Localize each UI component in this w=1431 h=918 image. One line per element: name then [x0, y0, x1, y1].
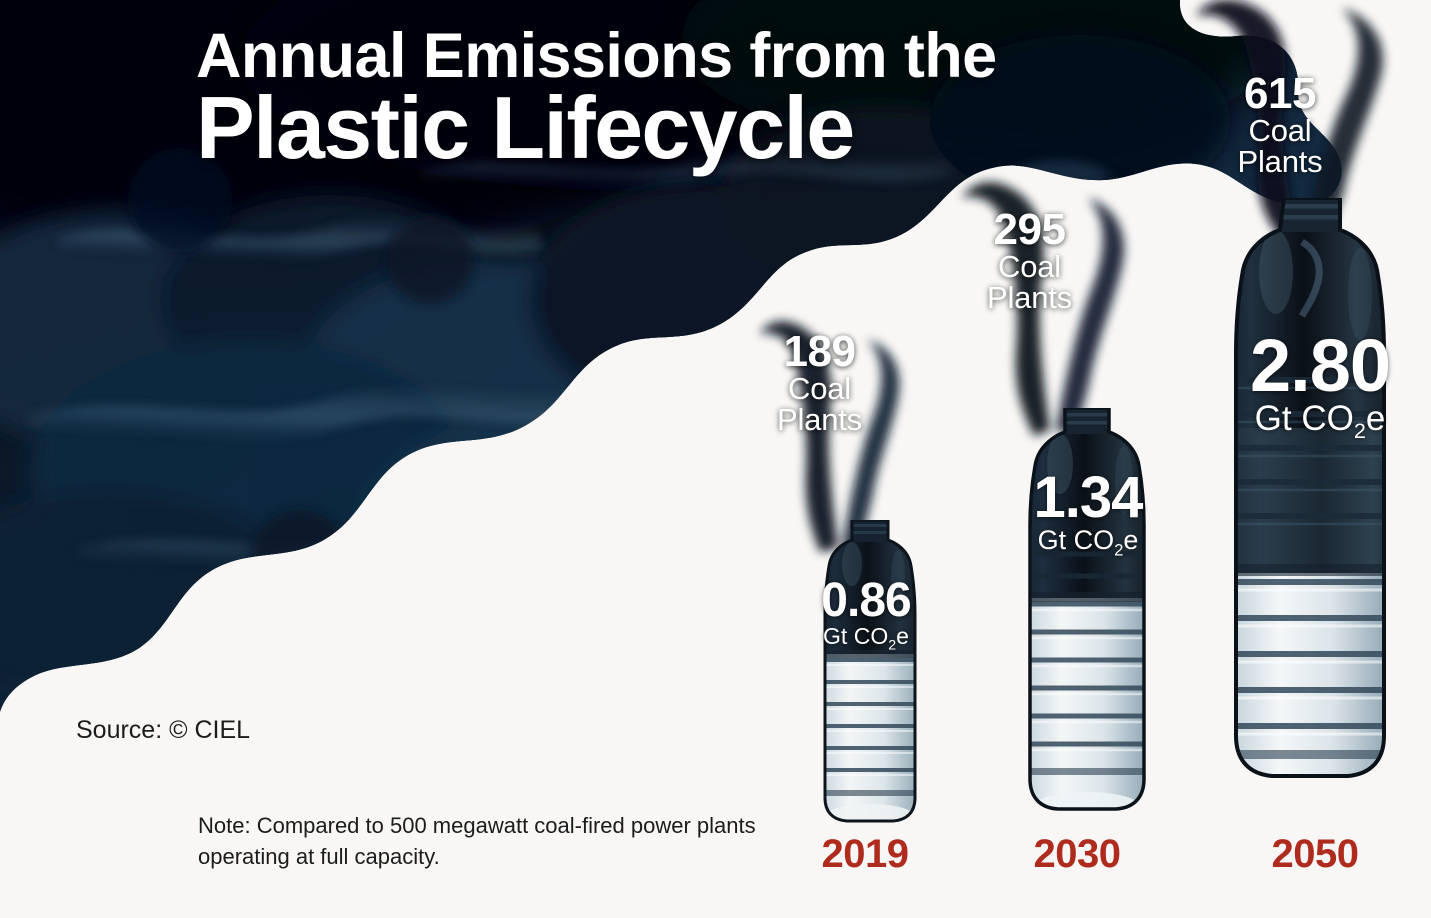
callout-label-line1: Coal: [742, 373, 897, 404]
value-unit: Gt CO2e: [1222, 401, 1418, 443]
title-line-2: Plastic Lifecycle: [196, 84, 997, 172]
callout-label-line2: Plants: [742, 404, 897, 435]
source-credit: Source: © CIEL: [76, 716, 250, 745]
callout-label-line1: Coal: [952, 251, 1107, 282]
year-label-2030: 2030: [1002, 832, 1152, 877]
callout-number: 189: [742, 330, 897, 373]
callout-label-line1: Coal: [1205, 115, 1355, 146]
value-number: 1.34: [1008, 470, 1168, 526]
bottle-2019: [806, 520, 934, 825]
value-label-2019: 0.86 Gt CO2e: [800, 578, 932, 654]
callout-label-line2: Plants: [1205, 146, 1355, 177]
value-number: 0.86: [800, 578, 932, 624]
callout-coal-plants-2030: 295 Coal Plants: [952, 208, 1107, 313]
bottle-2050: [1210, 198, 1414, 826]
callout-number: 295: [952, 208, 1107, 251]
value-number: 2.80: [1222, 330, 1418, 401]
footnote-note: Note: Compared to 500 megawatt coal-fire…: [198, 810, 758, 872]
infographic-poster: Annual Emissions from the Plastic Lifecy…: [0, 0, 1431, 918]
plastic-bottle-illustration: [806, 520, 934, 825]
callout-label-line2: Plants: [952, 282, 1107, 313]
year-label-2050: 2050: [1240, 832, 1390, 877]
year-label-2019: 2019: [790, 832, 940, 877]
value-label-2050: 2.80 Gt CO2e: [1222, 330, 1418, 443]
value-unit: Gt CO2e: [800, 624, 932, 654]
callout-coal-plants-2050: 615 Coal Plants: [1205, 72, 1355, 177]
value-label-2030: 1.34 Gt CO2e: [1008, 470, 1168, 559]
callout-number: 615: [1205, 72, 1355, 115]
callout-coal-plants-2019: 189 Coal Plants: [742, 330, 897, 435]
page-title: Annual Emissions from the Plastic Lifecy…: [196, 24, 997, 172]
value-unit: Gt CO2e: [1008, 526, 1168, 559]
plastic-bottle-illustration: [1210, 198, 1414, 826]
